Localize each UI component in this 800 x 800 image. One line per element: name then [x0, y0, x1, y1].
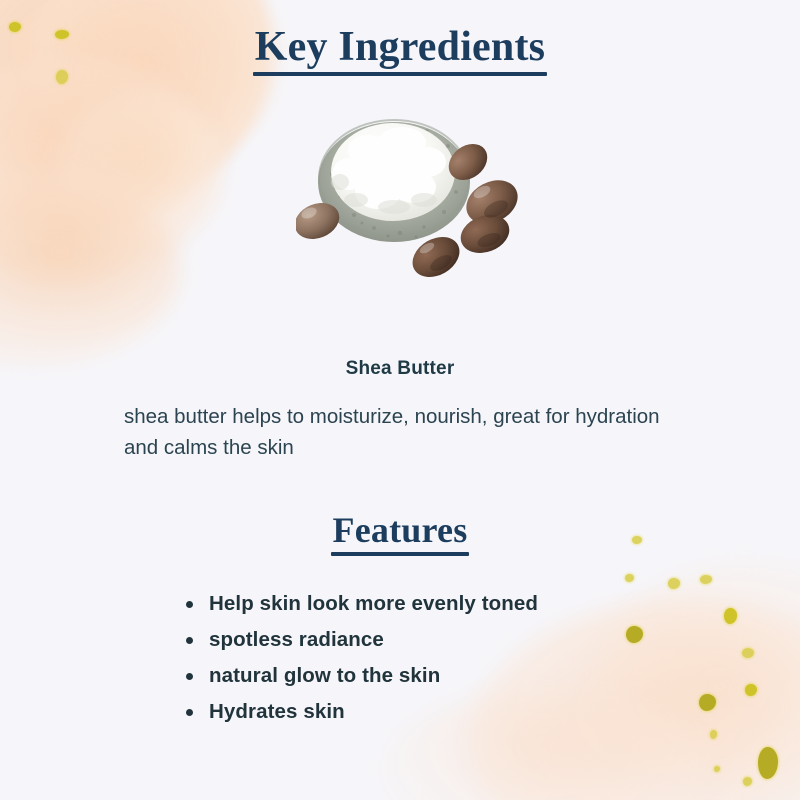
features-list: Help skin look more evenly toned spotles… — [183, 586, 538, 730]
feature-label: Hydrates skin — [209, 700, 345, 723]
shea-butter-bowl-image — [296, 112, 526, 292]
feature-label: natural glow to the skin — [209, 664, 440, 687]
list-item: Hydrates skin — [183, 694, 538, 730]
ingredient-name-label: Shea Butter — [0, 358, 800, 380]
section-heading-key-ingredients-text: Key Ingredients — [255, 22, 545, 76]
section-heading-features-text: Features — [333, 508, 468, 556]
ingredient-description: shea butter helps to moisturize, nourish… — [124, 401, 684, 463]
list-item: Help skin look more evenly toned — [183, 586, 538, 622]
content-layer: Key Ingredients — [0, 0, 800, 800]
product-infographic-page: Key Ingredients — [0, 0, 800, 800]
feature-label: spotless radiance — [209, 628, 384, 651]
list-item: natural glow to the skin — [183, 658, 538, 694]
section-heading-key-ingredients: Key Ingredients — [0, 22, 800, 76]
list-item: spotless radiance — [183, 622, 538, 658]
section-heading-features: Features — [0, 508, 800, 556]
feature-label: Help skin look more evenly toned — [209, 592, 538, 615]
